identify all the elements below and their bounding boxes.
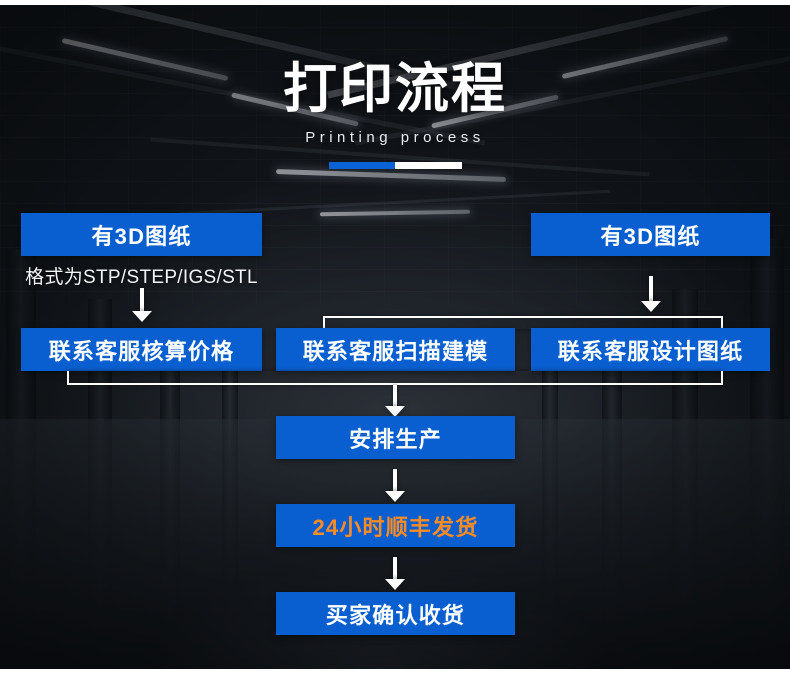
arrow-right-to-design xyxy=(641,276,661,312)
arrow-to-shipping xyxy=(385,469,405,502)
arrow-to-receipt xyxy=(385,557,405,590)
arrow-head xyxy=(641,301,661,312)
arrow-shaft xyxy=(393,557,397,580)
node-contact-service-quote[interactable]: 联系客服核算价格 xyxy=(21,328,262,371)
arrow-shaft xyxy=(393,385,397,407)
page-title: 打印流程 xyxy=(0,60,790,118)
drawing-format-caption: 格式为STP/STEP/IGS/STL xyxy=(21,262,262,289)
arrow-shaft xyxy=(649,276,653,302)
top-white-band xyxy=(0,0,790,5)
node-has-3d-drawing-right[interactable]: 有3D图纸 xyxy=(531,213,770,256)
node-arrange-production[interactable]: 安排生产 xyxy=(276,416,515,459)
bracket-row2-merge xyxy=(67,371,723,385)
header-block: 打印流程 Printing process xyxy=(0,60,790,169)
arrow-shaft xyxy=(140,288,144,312)
page-subtitle: Printing process xyxy=(0,129,790,146)
node-has-3d-drawing-left[interactable]: 有3D图纸 xyxy=(21,213,262,256)
arrow-left-to-quote xyxy=(132,288,152,322)
arrow-head xyxy=(385,579,405,590)
arrow-head xyxy=(132,311,152,322)
title-underline-white-segment xyxy=(395,162,462,169)
arrow-head xyxy=(385,491,405,502)
node-contact-service-scan-model[interactable]: 联系客服扫描建模 xyxy=(276,328,515,371)
arrow-shaft xyxy=(393,469,397,492)
bottom-white-band xyxy=(0,669,790,696)
title-underline-blue-segment xyxy=(329,162,396,169)
printing-process-infographic: 打印流程 Printing process 有3D图纸 有3D图纸 格式为STP… xyxy=(0,0,790,696)
title-underline xyxy=(329,162,462,169)
node-24h-sf-shipping[interactable]: 24小时顺丰发货 xyxy=(276,504,515,547)
arrow-to-production xyxy=(385,385,405,417)
node-buyer-confirm-receipt[interactable]: 买家确认收货 xyxy=(276,592,515,635)
node-contact-service-design-drawing[interactable]: 联系客服设计图纸 xyxy=(531,328,770,371)
